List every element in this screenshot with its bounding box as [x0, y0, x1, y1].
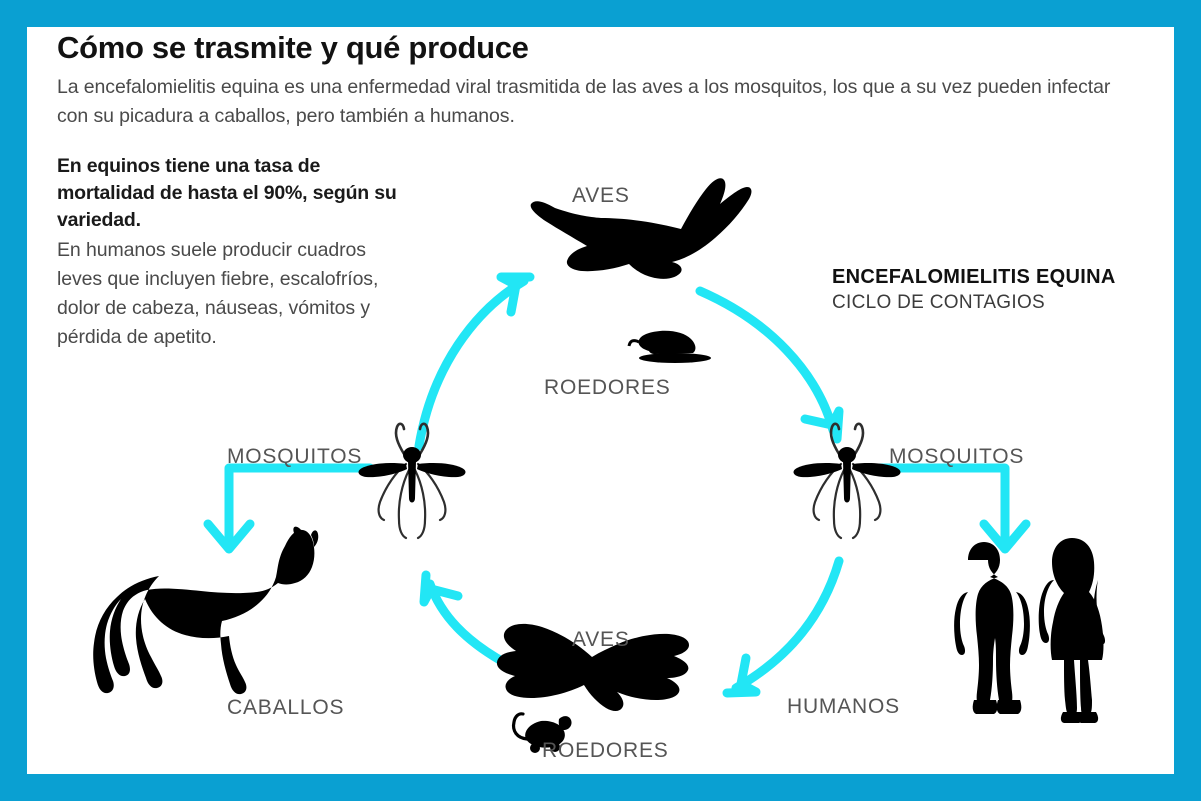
woman-silhouette: [1039, 538, 1105, 723]
label-aves-bottom: AVES: [572, 628, 630, 652]
arrow-bird-top-to-mosquito-right: [700, 291, 839, 439]
arrow-mosquito-right-to-bird-bottom: [727, 561, 839, 693]
label-roedores-top: ROEDORES: [544, 376, 671, 400]
label-humanos: HUMANOS: [787, 695, 900, 719]
label-mosquitos-right: MOSQUITOS: [889, 445, 1024, 469]
contagion-cycle-diagram: AVES ROEDORES MOSQUITOS: [27, 27, 1174, 774]
label-roedores-bottom: ROEDORES: [542, 739, 669, 763]
infographic-frame: Cómo se trasmite y qué produce La encefa…: [27, 27, 1174, 774]
man-silhouette: [954, 542, 1030, 714]
label-caballos: CABALLOS: [227, 696, 344, 720]
label-mosquitos-left: MOSQUITOS: [227, 445, 362, 469]
label-aves-top: AVES: [572, 184, 630, 208]
